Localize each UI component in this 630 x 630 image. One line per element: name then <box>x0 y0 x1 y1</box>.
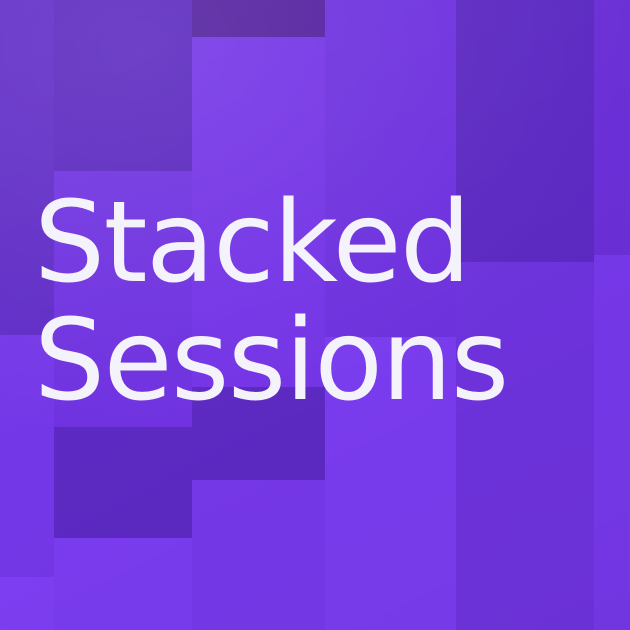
bar-segment <box>54 171 192 427</box>
stacked-sessions-artwork: Stacked Sessions <box>0 0 630 630</box>
bar-segment <box>192 37 325 387</box>
bar-segment <box>456 262 594 630</box>
bar-column <box>0 0 54 630</box>
bar-segment <box>0 0 54 335</box>
bar-segment <box>0 577 54 630</box>
bar-segment <box>0 335 54 577</box>
bar-column <box>456 0 594 630</box>
bar-segment <box>192 0 325 37</box>
bar-segment <box>456 0 594 262</box>
bar-segment <box>192 387 325 480</box>
bar-column <box>54 0 192 630</box>
bar-segment <box>54 538 192 630</box>
bar-segment <box>54 427 192 538</box>
bar-segment <box>192 480 325 630</box>
bar-segment <box>325 337 456 630</box>
bar-segment <box>594 255 630 630</box>
bar-segment <box>54 0 192 171</box>
bar-column <box>192 0 325 630</box>
bar-column <box>325 0 456 630</box>
bar-column <box>594 0 630 630</box>
bar-segment <box>594 0 630 255</box>
bar-segment <box>325 0 456 337</box>
